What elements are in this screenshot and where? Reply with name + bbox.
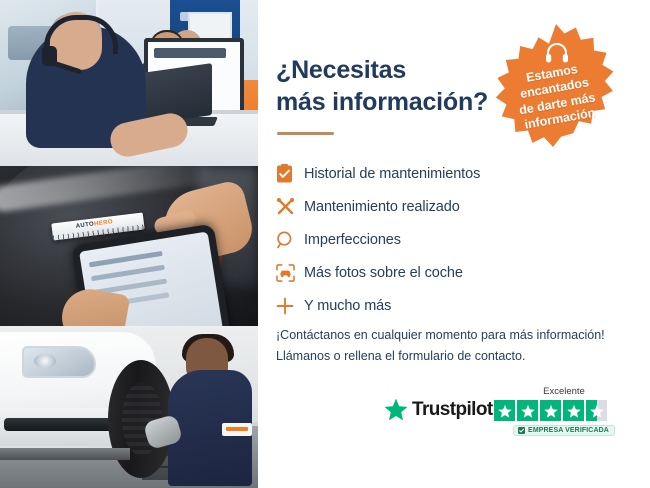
star-filled [494, 400, 515, 421]
content-panel: ¿Necesitas más información? Estamos enca… [258, 0, 650, 488]
trustpilot-brand-text: Trustpilot [412, 399, 493, 421]
feature-item-historial: Historial de mantenimientos [276, 157, 626, 190]
feature-label: Mantenimiento realizado [304, 199, 460, 215]
contact-paragraph-line-2: Llámanos o rellena el formulario de cont… [276, 346, 636, 367]
trustpilot-star-icon [384, 398, 408, 421]
contact-paragraph: ¡Contáctanos en cualquier momento para m… [276, 325, 636, 366]
ruler-brand-hero: HERO [94, 219, 114, 227]
car-scan-frame-icon [276, 264, 304, 282]
plus-icon [276, 297, 304, 315]
verified-company-text: EMPRESA VERIFICADA [528, 427, 609, 434]
trustpilot-rating: Excelente [494, 386, 634, 439]
trustpilot-stars [494, 400, 634, 421]
page-title-line-1: ¿Necesitas [276, 55, 506, 87]
star-filled [540, 400, 561, 421]
page-title: ¿Necesitas más información? [276, 55, 506, 118]
checklist-document-icon [276, 164, 304, 183]
star-filled [517, 400, 538, 421]
feature-item-fotos: Más fotos sobre el coche [276, 256, 626, 289]
page-title-line-2: más información? [276, 87, 506, 119]
star-filled [563, 400, 584, 421]
info-badge: Estamos encantados de darte más informac… [492, 22, 620, 150]
title-divider [277, 132, 334, 135]
feature-item-imperfecciones: Imperfecciones [276, 223, 626, 256]
feature-list: Historial de mantenimientos Mantenimient… [276, 157, 626, 322]
car-inspection-ruler-photo: AUTOHERO [0, 166, 258, 326]
promo-card: AUTOHERO [0, 0, 650, 488]
trustpilot-logo[interactable]: Trustpilot [384, 398, 493, 421]
feature-item-mantenimiento: Mantenimiento realizado [276, 190, 626, 223]
trustpilot-widget[interactable]: Trustpilot Excelente [384, 386, 634, 448]
contact-paragraph-line-1: ¡Contáctanos en cualquier momento para m… [276, 325, 636, 346]
headset-icon [545, 42, 569, 64]
magnifier-icon [276, 231, 304, 249]
star-half [586, 400, 607, 421]
feature-label: Más fotos sobre el coche [304, 265, 463, 281]
ruler-brand-auto: AUTO [75, 221, 94, 229]
feature-label: Y mucho más [304, 298, 391, 314]
verified-check-icon [518, 427, 525, 434]
verified-company-badge: EMPRESA VERIFICADA [513, 425, 615, 436]
feature-item-mas: Y mucho más [276, 289, 626, 322]
feature-label: Imperfecciones [304, 232, 401, 248]
mechanic-wheel-photo [0, 326, 258, 488]
wrench-screwdriver-icon [276, 197, 304, 216]
call-center-agents-photo [0, 0, 258, 166]
feature-label: Historial de mantenimientos [304, 166, 480, 182]
trustpilot-rating-label: Excelente [494, 386, 634, 397]
photo-column: AUTOHERO [0, 0, 258, 488]
